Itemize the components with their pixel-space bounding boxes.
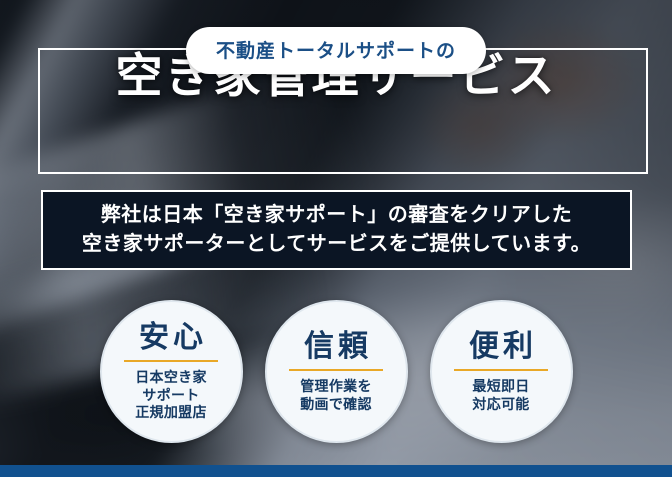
hero-banner: 空き家管理サービス 不動産トータルサポートの 弊社は日本「空き家サポート」の審査… — [0, 0, 672, 477]
feature-circle-anshin[interactable]: 安心 日本空き家 サポート 正規加盟店 — [100, 300, 243, 443]
bottom-accent-bar — [0, 465, 672, 477]
statement-line-1: 弊社は日本「空き家サポート」の審査をクリアした — [101, 201, 573, 230]
feature-circle-benri[interactable]: 便利 最短即日 対応可能 — [430, 300, 573, 443]
feature-subtext-line-3: 正規加盟店 — [135, 404, 207, 422]
feature-subtext-line-1: 管理作業を — [300, 378, 372, 396]
feature-subtext-line-2: 動画で確認 — [300, 396, 372, 414]
feature-subtext: 日本空き家 サポート 正規加盟店 — [135, 369, 207, 423]
feature-circle-list: 安心 日本空き家 サポート 正規加盟店 信頼 管理作業を 動画で確認 便利 最短… — [0, 300, 672, 443]
badge-pill-label: 不動産トータルサポートの — [186, 27, 486, 74]
feature-heading: 安心 — [135, 323, 207, 353]
feature-subtext-line-2: サポート — [135, 387, 207, 405]
feature-subtext-line-2: 対応可能 — [472, 396, 529, 414]
feature-divider-rule — [454, 369, 548, 371]
feature-divider-rule — [289, 369, 383, 371]
feature-heading: 信頼 — [300, 332, 372, 362]
feature-heading: 便利 — [465, 332, 537, 362]
feature-circle-shinrai[interactable]: 信頼 管理作業を 動画で確認 — [265, 300, 408, 443]
feature-divider-rule — [124, 360, 218, 362]
statement-line-2: 空き家サポーターとしてサービスをご提供しています。 — [82, 230, 591, 259]
feature-subtext-line-1: 日本空き家 — [135, 369, 207, 387]
feature-subtext: 最短即日 対応可能 — [472, 378, 529, 414]
feature-subtext: 管理作業を 動画で確認 — [300, 378, 372, 414]
statement-box: 弊社は日本「空き家サポート」の審査をクリアした 空き家サポーターとしてサービスを… — [41, 190, 632, 270]
feature-subtext-line-1: 最短即日 — [472, 378, 529, 396]
